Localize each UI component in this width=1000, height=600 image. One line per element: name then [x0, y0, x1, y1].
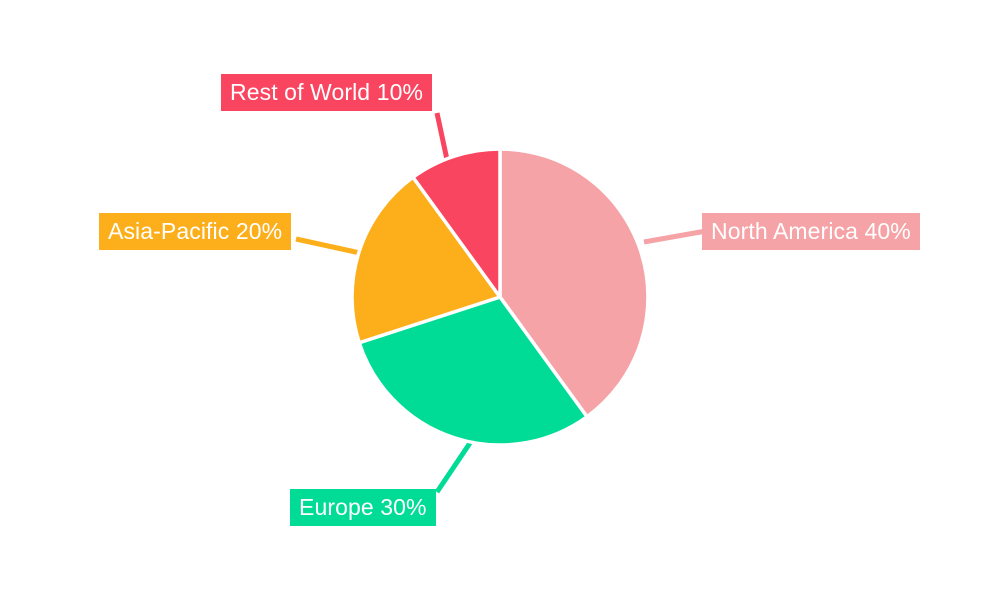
pie-label-europe: Europe 30%	[290, 489, 436, 526]
pie-label-rest-of-world: Rest of World 10%	[221, 74, 432, 111]
leader-line-europe	[437, 443, 470, 492]
pie-chart-canvas	[0, 0, 1000, 600]
pie-label-text: Rest of World 10%	[230, 81, 423, 104]
pie-label-north-america: North America 40%	[702, 213, 920, 250]
pie-label-text: North America 40%	[711, 220, 911, 243]
leader-line-asia-pacific	[296, 239, 360, 253]
pie-chart-figure: North America 40% Europe 30% Asia-Pacifi…	[0, 0, 1000, 600]
leader-line-north-america	[644, 231, 706, 242]
pie-label-asia-pacific: Asia-Pacific 20%	[99, 213, 291, 250]
pie-label-text: Asia-Pacific 20%	[108, 220, 282, 243]
pie-label-text: Europe 30%	[299, 496, 427, 519]
